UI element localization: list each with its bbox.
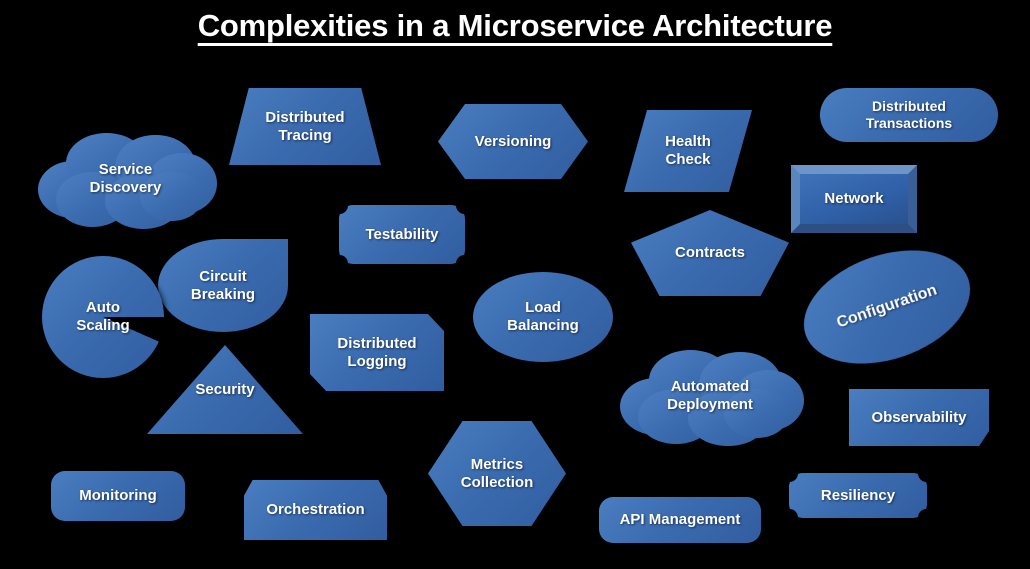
shape-node-network[interactable]: Network bbox=[791, 165, 917, 233]
shape-node-observability[interactable]: Observability bbox=[849, 389, 989, 446]
shape-node-resiliency[interactable]: Resiliency bbox=[789, 473, 927, 518]
shape-label-metrics-collection: Metrics Collection bbox=[457, 456, 538, 491]
diagram-canvas: Complexities in a Microservice Architect… bbox=[0, 0, 1030, 569]
shape-node-contracts[interactable]: Contracts bbox=[631, 210, 789, 296]
shape-label-monitoring: Monitoring bbox=[75, 487, 160, 505]
shape-label-distributed-tracing: Distributed Tracing bbox=[261, 109, 348, 144]
shape-label-distributed-transactions: Distributed Transactions bbox=[862, 98, 956, 131]
shape-node-testability[interactable]: Testability bbox=[339, 205, 465, 264]
shape-label-versioning: Versioning bbox=[471, 133, 556, 151]
shape-label-api-management: API Management bbox=[616, 511, 745, 529]
ticket-notch bbox=[781, 465, 798, 482]
shape-label-resiliency: Resiliency bbox=[817, 487, 899, 505]
shape-label-auto-scaling: Auto Scaling bbox=[72, 299, 133, 334]
shape-label-observability: Observability bbox=[867, 409, 970, 427]
shape-label-service-discovery: Service Discovery bbox=[86, 161, 166, 196]
ticket-notch bbox=[918, 465, 935, 482]
shape-label-load-balancing: Load Balancing bbox=[503, 299, 583, 334]
shape-node-distributed-transactions[interactable]: Distributed Transactions bbox=[820, 88, 998, 142]
shape-node-security[interactable]: Security bbox=[147, 345, 303, 434]
shape-label-circuit-breaking: Circuit Breaking bbox=[187, 268, 259, 303]
shape-node-health-check[interactable]: Health Check bbox=[624, 110, 752, 192]
shape-node-auto-scaling[interactable]: Auto Scaling bbox=[42, 256, 164, 378]
page-title: Complexities in a Microservice Architect… bbox=[0, 8, 1030, 44]
shape-label-security: Security bbox=[191, 381, 258, 399]
shape-node-circuit-breaking[interactable]: Circuit Breaking bbox=[158, 239, 288, 332]
ticket-notch bbox=[331, 255, 348, 272]
shape-label-automated-deployment: Automated Deployment bbox=[663, 378, 757, 413]
shape-node-api-management[interactable]: API Management bbox=[599, 497, 761, 543]
shape-node-automated-deployment[interactable]: Automated Deployment bbox=[620, 350, 800, 442]
shape-node-distributed-logging[interactable]: Distributed Logging bbox=[310, 314, 444, 391]
ticket-notch bbox=[781, 509, 798, 526]
shape-node-configuration[interactable]: Configuration bbox=[789, 230, 985, 384]
shape-node-monitoring[interactable]: Monitoring bbox=[51, 471, 185, 521]
shape-label-health-check: Health Check bbox=[661, 133, 715, 168]
shape-label-orchestration: Orchestration bbox=[262, 501, 368, 519]
shape-node-orchestration[interactable]: Orchestration bbox=[244, 480, 387, 540]
shape-node-versioning[interactable]: Versioning bbox=[438, 104, 588, 179]
ticket-notch bbox=[918, 509, 935, 526]
shape-node-load-balancing[interactable]: Load Balancing bbox=[473, 272, 613, 362]
ticket-notch bbox=[331, 197, 348, 214]
ticket-notch bbox=[456, 255, 473, 272]
shape-label-distributed-logging: Distributed Logging bbox=[333, 335, 420, 370]
shape-label-testability: Testability bbox=[361, 226, 442, 244]
ticket-notch bbox=[456, 197, 473, 214]
shape-node-distributed-tracing[interactable]: Distributed Tracing bbox=[229, 88, 381, 165]
shape-label-network: Network bbox=[820, 190, 887, 208]
shape-node-metrics-collection[interactable]: Metrics Collection bbox=[428, 421, 566, 526]
shape-label-contracts: Contracts bbox=[671, 244, 749, 262]
shape-node-service-discovery[interactable]: Service Discovery bbox=[38, 133, 213, 225]
